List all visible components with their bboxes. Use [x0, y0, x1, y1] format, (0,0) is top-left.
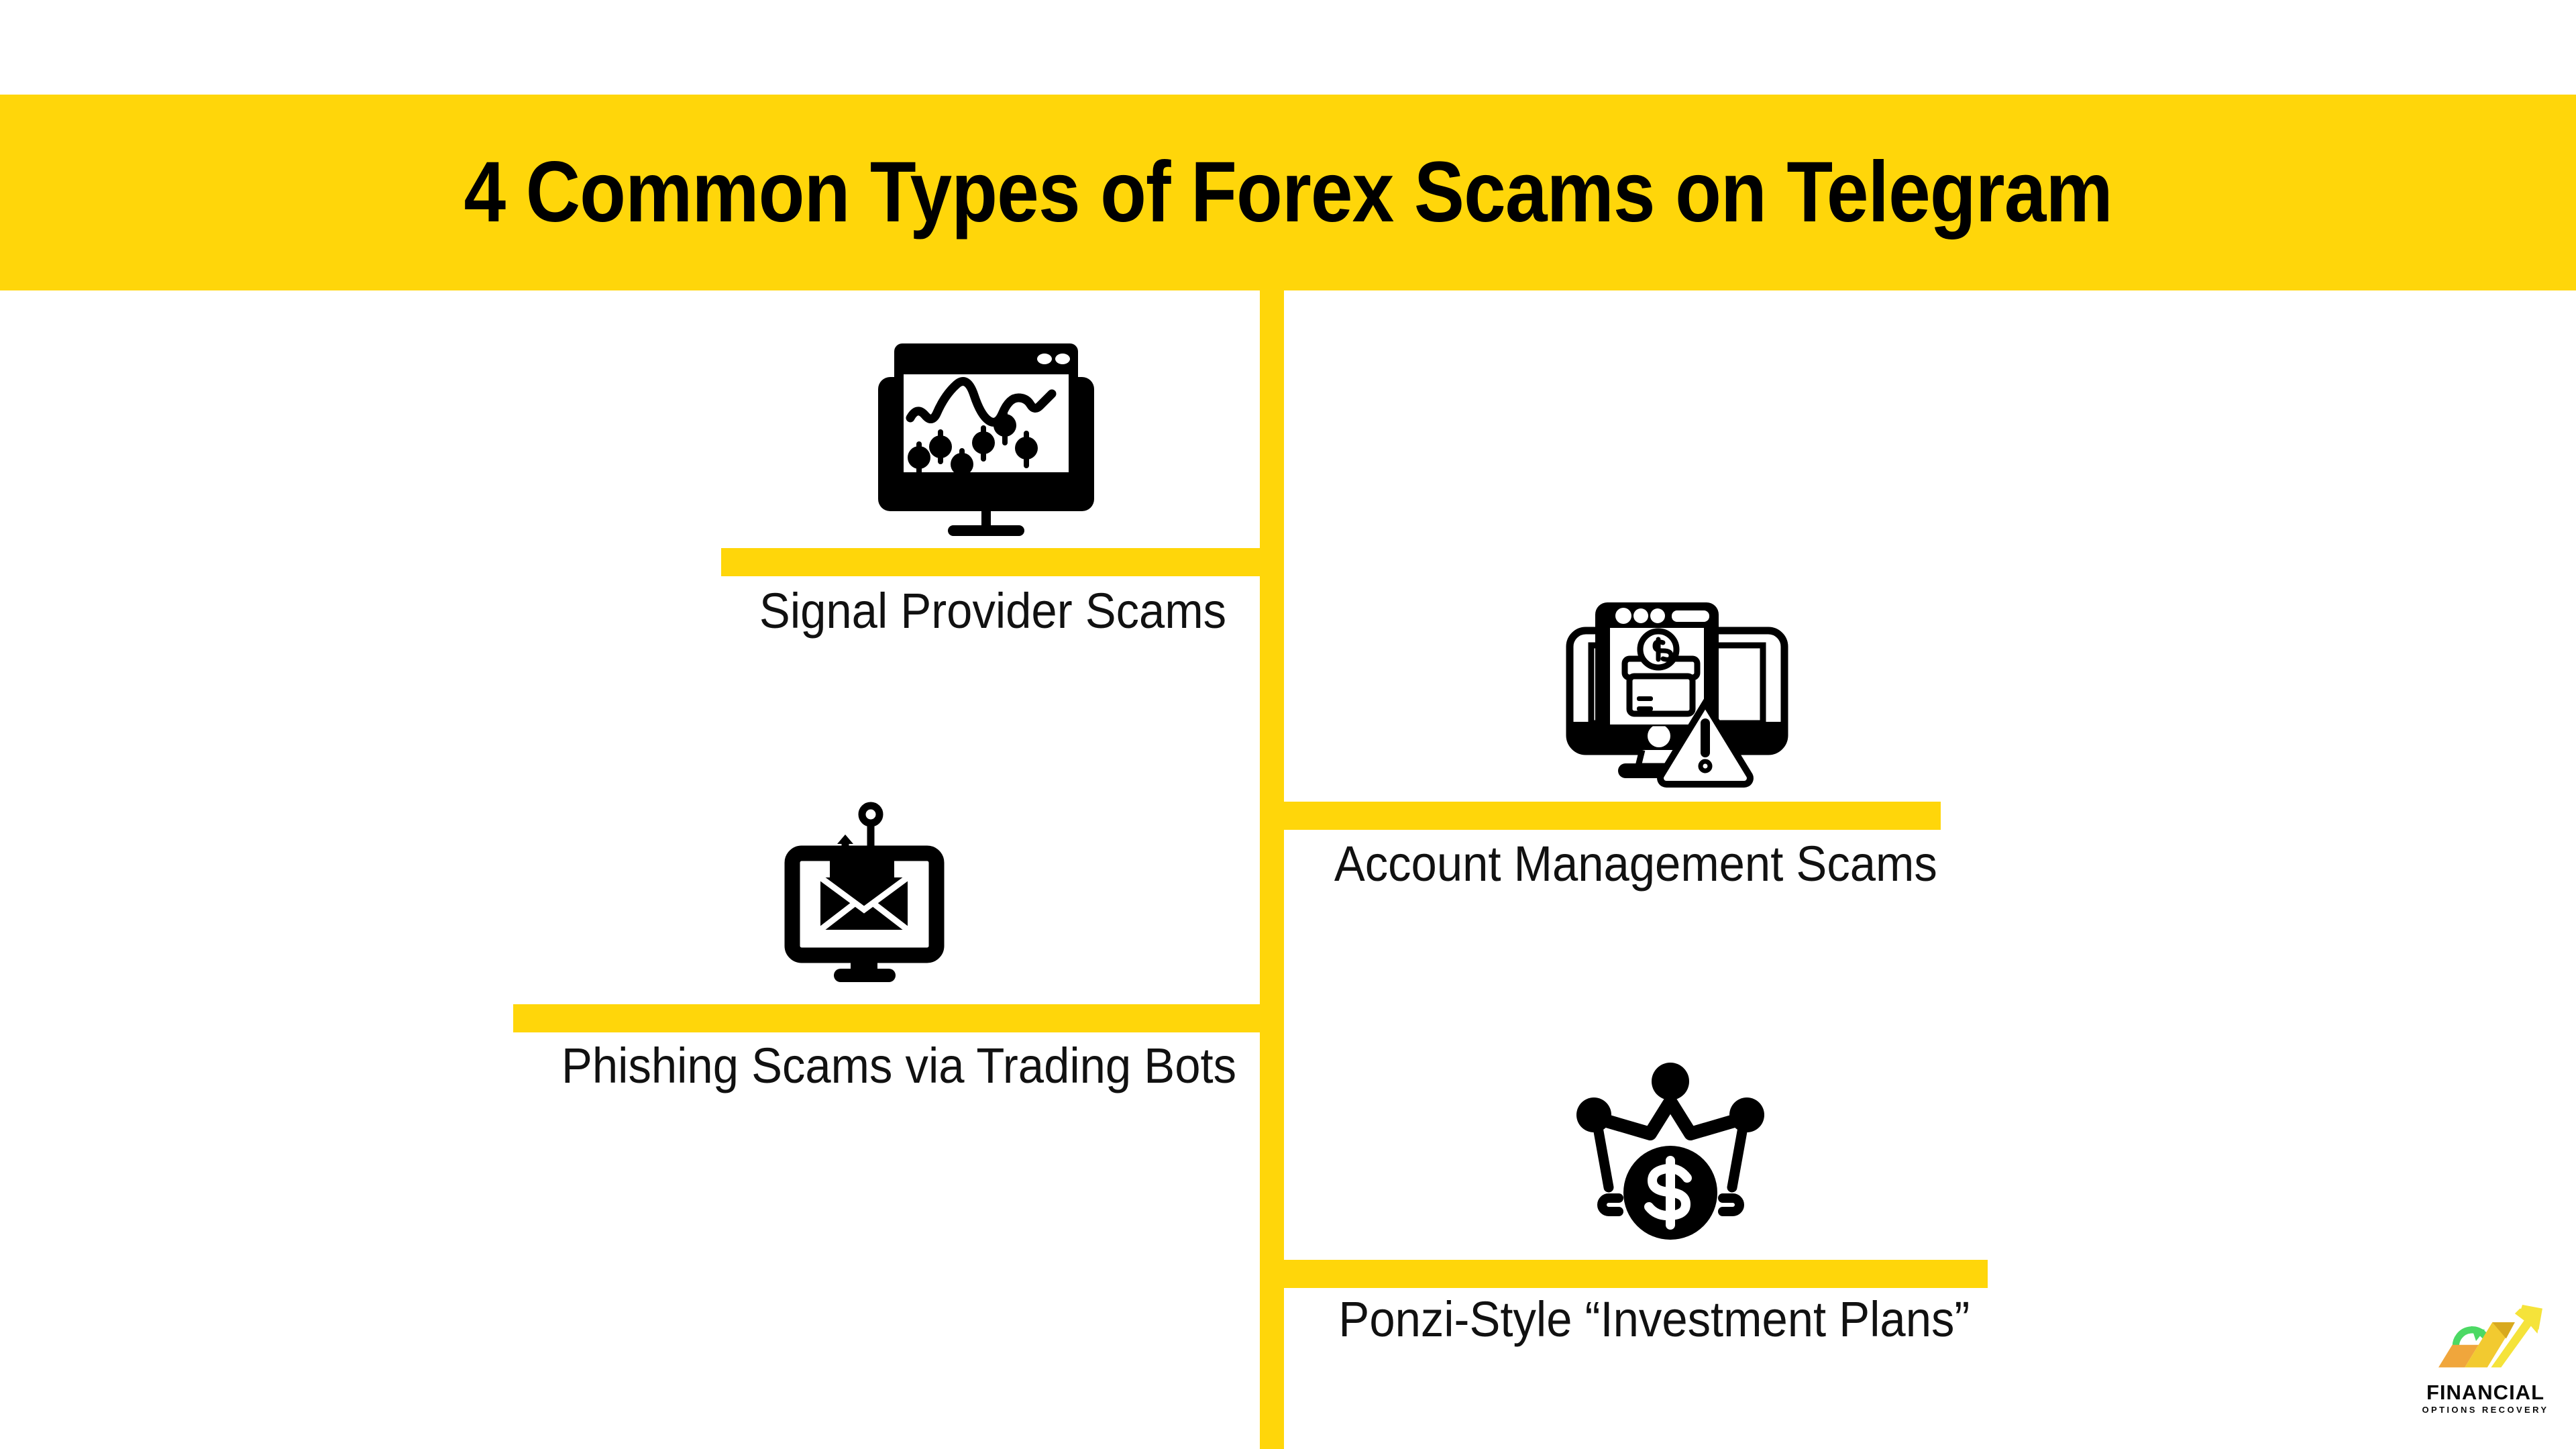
brand-name: FINANCIAL — [2408, 1382, 2563, 1403]
monitor-trading-chart-icon — [862, 335, 1110, 543]
item-label-1: Signal Provider Scams — [743, 586, 1242, 636]
item-label-2: Account Management Scams — [1334, 839, 1937, 889]
item-bar-1 — [721, 548, 1284, 576]
brand-logo: FINANCIAL OPTIONS RECOVERY — [2408, 1305, 2563, 1422]
brand-tagline: OPTIONS RECOVERY — [2408, 1405, 2563, 1414]
crown-dollar-coin-icon — [1550, 1060, 1784, 1254]
monitor-envelope-hook-icon — [775, 798, 976, 1000]
item-label-3: Phishing Scams via Trading Bots — [543, 1041, 1254, 1091]
item-bar-3 — [513, 1004, 1284, 1032]
item-label-4: Ponzi-Style “Investment Plans” — [1338, 1295, 1970, 1344]
item-bar-2 — [1260, 802, 1941, 830]
item-bar-4 — [1260, 1260, 1988, 1288]
monitor-money-warning-icon — [1563, 590, 1791, 798]
header-bar: 4 Common Types of Forex Scams on Telegra… — [0, 95, 2576, 290]
page-title: 4 Common Types of Forex Scams on Telegra… — [464, 150, 2112, 235]
rising-chart-arrow-icon — [2422, 1305, 2549, 1380]
